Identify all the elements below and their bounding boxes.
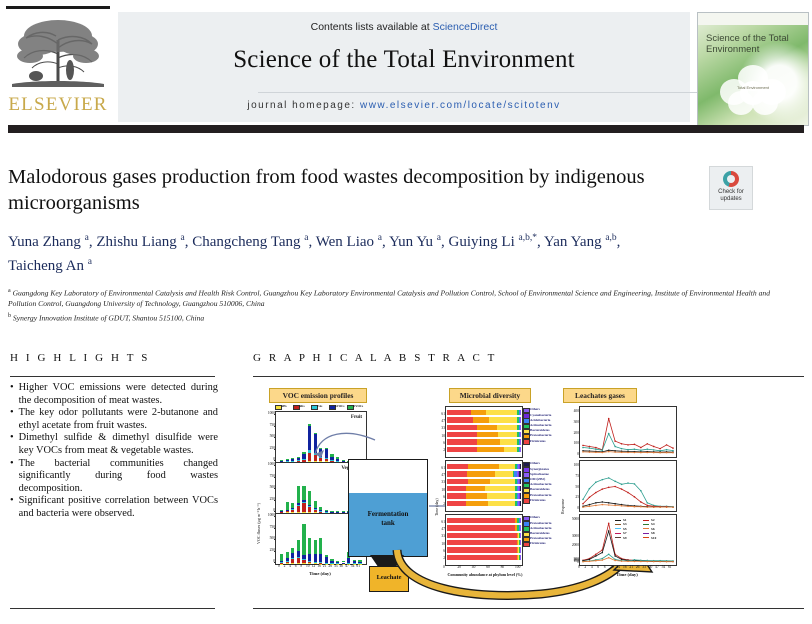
highlight-text: Higher VOC emissions were detected durin…: [19, 382, 218, 407]
bar-segment: [520, 547, 521, 552]
author[interactable]: Taicheng An a: [8, 258, 92, 274]
legend-line: [643, 528, 649, 529]
legend-label: Spirochaetae: [530, 472, 549, 476]
y-tick-label: 47: [438, 419, 445, 423]
y-tick-label: 100: [568, 441, 579, 445]
bar-segment: [447, 533, 517, 538]
bar-segment: [485, 486, 515, 491]
legend-swatch: [523, 542, 530, 547]
page-title: Malodorous gases production from food wa…: [8, 164, 653, 216]
bar-segment: [468, 479, 490, 484]
bar-segment: [477, 447, 504, 452]
bar-segment: [447, 501, 466, 506]
x-tick-label: 40: [472, 565, 476, 569]
y-tick-label: 61: [438, 412, 445, 416]
bar-segment: [477, 439, 499, 444]
legend-label: Others: [530, 407, 540, 411]
legend-label: S1: [623, 518, 627, 522]
legend-line: [643, 520, 649, 521]
contents-line: Contents lists available at ScienceDirec…: [118, 21, 690, 33]
x-tick-label: 8: [604, 565, 606, 569]
x-tick-label: 61: [668, 565, 672, 569]
list-item: • The bacterial communities changed sign…: [10, 458, 218, 496]
microbial-x-tick-labels: 020406080100: [445, 565, 521, 571]
legend-label: Proteobacteria: [530, 521, 551, 525]
microbial-y-axis-label: Time (day): [434, 498, 439, 516]
y-tick-label: 400: [568, 409, 579, 413]
legend-label: S3: [623, 522, 627, 526]
list-item: • Significant positive correlation betwe…: [10, 495, 218, 520]
legend-swatch: [523, 439, 530, 444]
y-tick-label: 200: [568, 431, 579, 435]
legend-label: Bacteroidetes: [530, 428, 550, 432]
bar-segment: [477, 425, 496, 430]
microbial-subplot-vegetable: 6147331062: [445, 460, 523, 512]
leachate-x-axis-label: Time (day): [579, 572, 675, 577]
panel-title-leachate: Leachates gases: [563, 388, 637, 403]
bar-segment: [467, 471, 495, 476]
bar-segment: [477, 432, 498, 437]
legend-label: S2: [651, 518, 655, 522]
legend-line: [643, 533, 649, 534]
legend-label: S9: [623, 536, 627, 540]
bullet-icon: •: [10, 458, 14, 496]
y-tick-label: 33: [438, 534, 445, 538]
legend-label: Actinobacteria: [530, 482, 551, 486]
elsevier-wordmark: ELSEVIER: [6, 94, 110, 116]
header-black-rule: [8, 125, 804, 133]
journal-homepage-line: journal homepage: www.elsevier.com/locat…: [118, 100, 690, 111]
bar-segment: [447, 425, 477, 430]
y-tick-label: 61: [438, 466, 445, 470]
y-tick-label: 10: [438, 488, 445, 492]
x-tick-label: 100: [515, 565, 520, 569]
x-tick-label: 40: [649, 565, 653, 569]
y-tick-label: 2: [438, 502, 445, 506]
highlight-text: Significant positive correlation between…: [19, 495, 218, 520]
legend-label: Proteobacteria: [530, 493, 551, 497]
leachate-y-axis-label: Response: [560, 499, 565, 514]
leachate-subplot-fruit: 0100200300400: [579, 406, 677, 458]
journal-cover-image: Science of the Total Environment Total E…: [697, 12, 809, 126]
bar-segment: [487, 493, 515, 498]
elsevier-top-rule: [6, 6, 110, 9]
x-tick-label: 0: [443, 565, 445, 569]
legend-label: OD1(ZB2): [530, 477, 545, 481]
list-item: • The key odor pollutants were 2-butanon…: [10, 407, 218, 432]
list-item: • Higher VOC emissions were detected dur…: [10, 382, 218, 407]
x-tick-label: 20: [457, 565, 461, 569]
bar-segment: [519, 471, 521, 476]
author[interactable]: Yun Yu a: [389, 234, 441, 250]
leachate-x-tick-labels: 0246810121621263340475461: [579, 565, 675, 571]
bar-segment: [447, 486, 466, 491]
legend-label: S7: [623, 531, 627, 535]
y-tick-label: 25: [568, 495, 579, 499]
y-tick-label: 10: [438, 434, 445, 438]
y-tick-label: 2: [438, 556, 445, 560]
affiliation-a-text: Guangdong Key Laboratory of Environmenta…: [8, 289, 770, 309]
crossmark-badge[interactable]: Check for updates: [709, 166, 753, 210]
author[interactable]: Changcheng Tang a: [192, 234, 308, 250]
legend-label: Proteobacteria: [530, 433, 551, 437]
bar-segment: [447, 540, 517, 545]
x-tick-label: 80: [501, 565, 505, 569]
leachate-legend: S1S2S3S4S5S6S7S8S9S10: [615, 518, 673, 540]
y-tick-label: 33: [438, 480, 445, 484]
highlight-text: Dimethyl sulfide & dimethyl disulfide we…: [19, 432, 218, 457]
bar-segment: [489, 417, 517, 422]
y-tick-label: 0: [568, 506, 579, 510]
graphical-abstract-figure: VOC emission profiles Microbial diversit…: [253, 386, 804, 602]
bar-segment: [520, 417, 521, 422]
y-tick-label: 100: [568, 463, 579, 467]
bar-segment: [520, 486, 521, 491]
legend-label: S6: [651, 527, 655, 531]
legend-label: Bacteroidetes: [530, 487, 550, 491]
y-tick-label: 6: [438, 441, 445, 445]
y-tick-label: 75: [568, 474, 579, 478]
bar-segment: [447, 471, 467, 476]
highlight-text: The bacterial communities changed signif…: [19, 458, 218, 496]
y-tick-label: 2: [438, 448, 445, 452]
bar-segment: [520, 425, 521, 430]
affiliation-a: a Guangdong Key Laboratory of Environmen…: [8, 286, 798, 310]
bar-segment: [468, 464, 499, 469]
legend-line: [615, 537, 621, 538]
y-tick-label: 47: [438, 527, 445, 531]
legend-label: Cyanobacteria: [530, 413, 551, 417]
legend-label: Actinobacteria: [530, 526, 551, 530]
graphical-abstract-heading: G R A P H I C A L A B S T R A C T: [253, 352, 497, 364]
bar-segment: [488, 501, 515, 506]
bar-segment: [447, 417, 473, 422]
crossmark-icon-center: [727, 175, 735, 183]
journal-masthead: ELSEVIER Contents lists available at Sci…: [0, 6, 812, 122]
y-tick-label: 300: [568, 420, 579, 424]
bullet-icon: •: [10, 432, 14, 457]
author[interactable]: Wen Liao a: [316, 234, 382, 250]
legend-line: [615, 533, 621, 534]
bar-segment: [520, 432, 521, 437]
homepage-url[interactable]: www.elsevier.com/locate/scitotenv: [360, 100, 561, 111]
cover-caption: Total Environment: [698, 85, 808, 90]
bar-segment: [447, 525, 515, 530]
legend-label: Actinobacteria: [530, 423, 551, 427]
y-tick-label: 33: [438, 426, 445, 430]
legend-label: Proteobacteria: [530, 536, 551, 540]
highlights-heading: H I G H L I G H T S: [10, 352, 150, 364]
affiliation-b: b Synergy Innovation Institute of GDUT, …: [8, 311, 798, 324]
homepage-label: journal homepage:: [247, 100, 355, 111]
bullet-icon: •: [10, 495, 14, 520]
legend-label: S8: [651, 531, 655, 535]
y-tick-label: 3000: [568, 534, 579, 538]
crossmark-line2: updates: [720, 196, 741, 202]
author[interactable]: Yuna Zhang a: [8, 234, 89, 250]
cover-top-strip: [698, 13, 808, 25]
legend-label: Bacteroidetes: [530, 531, 550, 535]
tank-label-line2: tank: [381, 519, 395, 527]
y-tick-label: 47: [438, 473, 445, 477]
contents-prefix: Contents lists available at: [311, 21, 433, 33]
crossmark-icon: [723, 171, 739, 187]
microbial-x-axis-label: Community abundance at phylum level (%): [439, 572, 531, 577]
journal-article-page: ELSEVIER Contents lists available at Sci…: [0, 0, 812, 624]
x-tick-label: 33: [642, 565, 646, 569]
x-tick-label: 60: [486, 565, 490, 569]
list-item: • Dimethyl sulfide & dimethyl disulfide …: [10, 432, 218, 457]
y-tick-label: 6: [438, 495, 445, 499]
x-tick-label: 21: [629, 565, 633, 569]
bar-segment: [520, 540, 521, 545]
bar-segment: [466, 493, 487, 498]
elsevier-logo: ELSEVIER: [2, 6, 114, 122]
microbial-subplot-meat: 6147331062: [445, 514, 523, 566]
bar-segment: [520, 493, 521, 498]
bar-segment: [447, 493, 466, 498]
bar-segment: [520, 533, 521, 538]
cover-flower-graphic: [720, 65, 786, 115]
highlight-text: The key odor pollutants were 2-butanone …: [19, 407, 218, 432]
crossmark-label: Check for updates: [710, 189, 752, 203]
affiliations: a Guangdong Key Laboratory of Environmen…: [8, 286, 798, 324]
legend-swatch: [523, 498, 530, 503]
legend-line: [643, 537, 649, 538]
bar-segment: [471, 410, 486, 415]
bar-segment: [504, 447, 517, 452]
bar-segment: [497, 425, 518, 430]
tank-label-line1: Fermentation: [368, 510, 409, 518]
line-plot: [580, 407, 676, 457]
x-tick-label: 6: [597, 565, 599, 569]
author[interactable]: Yan Yang a,b: [544, 234, 617, 250]
y-tick-label: 0: [568, 452, 579, 456]
bar-segment: [520, 447, 521, 452]
x-tick-label: 12: [617, 565, 621, 569]
legend-label: Others: [530, 461, 540, 465]
bar-segment: [447, 547, 517, 552]
tank-label: Fermentation tank: [349, 510, 427, 528]
bar-segment: [498, 432, 517, 437]
bar-segment: [520, 439, 521, 444]
bar-segment: [490, 479, 515, 484]
x-tick-label: 4: [591, 565, 593, 569]
bar-segment: [447, 432, 477, 437]
article-header: Malodorous gases production from food wa…: [8, 164, 688, 325]
bullet-icon: •: [10, 407, 14, 432]
cover-title-text: Science of the Total Environment: [706, 33, 802, 55]
elsevier-tree-icon: [8, 14, 108, 90]
legend-line: [615, 520, 621, 521]
legend-label: Others: [530, 515, 540, 519]
bar-segment: [466, 501, 488, 506]
bullet-icon: •: [10, 382, 14, 407]
highlights-bottom-rule: [10, 608, 215, 609]
legend-label: Acidobacteria: [530, 418, 550, 422]
crossmark-line1: Check for: [718, 189, 744, 195]
y-tick-label: 50: [568, 485, 579, 489]
leachate-gases-chart: Response 0100200300400 0255075100 010020…: [559, 404, 681, 588]
y-tick-label: 10: [438, 542, 445, 546]
legend-label: Synergistetes: [530, 467, 549, 471]
y-tick-label: 5000: [568, 517, 579, 521]
microbial-subplot-fruit: 6147331062: [445, 406, 523, 458]
panel-title-microbial: Microbial diversity: [449, 388, 531, 403]
x-tick-label: 26: [636, 565, 640, 569]
x-tick-label: 10: [610, 565, 614, 569]
highlights-top-rule: [10, 376, 215, 377]
graphical-abstract-top-rule: [253, 376, 804, 377]
legend-line: [643, 524, 649, 525]
journal-title: Science of the Total Environment: [118, 46, 690, 74]
author-list: Yuna Zhang a, Zhishu Liang a, Changcheng…: [8, 228, 648, 276]
bar-segment: [447, 447, 477, 452]
x-tick-label: 16: [623, 565, 627, 569]
highlights-list: • Higher VOC emissions were detected dur…: [10, 382, 218, 521]
legend-label: S5: [623, 527, 627, 531]
legend-label: Firmicutes: [530, 498, 546, 502]
fermentation-tank: Fermentation tank: [348, 459, 428, 557]
bar-segment: [520, 555, 521, 560]
microbial-legends: OthersCyanobacteriaAcidobacteriaActinoba…: [523, 404, 559, 568]
legend-label: S4: [651, 522, 655, 526]
affiliation-b-text: Synergy Innovation Institute of GDUT, Sh…: [13, 313, 204, 322]
bar-segment: [473, 417, 489, 422]
bar-segment: [520, 525, 521, 530]
y-tick-label: 300: [568, 557, 579, 561]
x-tick-label: 2: [584, 565, 586, 569]
bar-segment: [466, 486, 485, 491]
x-tick-label: 0: [578, 565, 580, 569]
bar-segment: [447, 479, 468, 484]
x-tick-label: 54: [662, 565, 666, 569]
bar-segment: [520, 464, 521, 469]
legend-label: Firmicutes: [530, 541, 546, 545]
legend-line: [615, 528, 621, 529]
y-tick-label: 61: [438, 520, 445, 524]
bar-segment: [486, 410, 517, 415]
panel-title-voc: VOC emission profiles: [269, 388, 367, 403]
bar-segment: [495, 471, 513, 476]
bar-segment: [447, 464, 468, 469]
graphical-abstract-bottom-rule: [253, 608, 804, 609]
legend-label: S10: [651, 536, 656, 540]
bar-segment: [520, 501, 521, 506]
legend-label: Firmicutes: [530, 439, 546, 443]
bar-segment: [447, 439, 477, 444]
journal-band: Contents lists available at ScienceDirec…: [118, 12, 690, 122]
author[interactable]: Zhishu Liang a: [96, 234, 184, 250]
y-tick-label: 2000: [568, 543, 579, 547]
leachate-subplot-vegetable: 0255075100: [579, 460, 677, 512]
line-plot: [580, 461, 676, 511]
bar-segment: [447, 555, 517, 560]
x-tick-label: 47: [655, 565, 659, 569]
bar-segment: [520, 518, 521, 523]
bar-segment: [499, 464, 515, 469]
bar-segment: [447, 518, 515, 523]
microbial-diversity-chart: Time (day) 6147331062 6147331062 6147331…: [431, 404, 557, 588]
y-tick-label: 6: [438, 549, 445, 553]
sciencedirect-link[interactable]: ScienceDirect: [433, 21, 498, 33]
author[interactable]: Guiying Li a,b,*: [448, 234, 536, 250]
bar-segment: [447, 410, 471, 415]
bar-segment: [520, 410, 521, 415]
bar-segment: [520, 479, 521, 484]
legend-line: [615, 524, 621, 525]
bar-segment: [500, 439, 518, 444]
